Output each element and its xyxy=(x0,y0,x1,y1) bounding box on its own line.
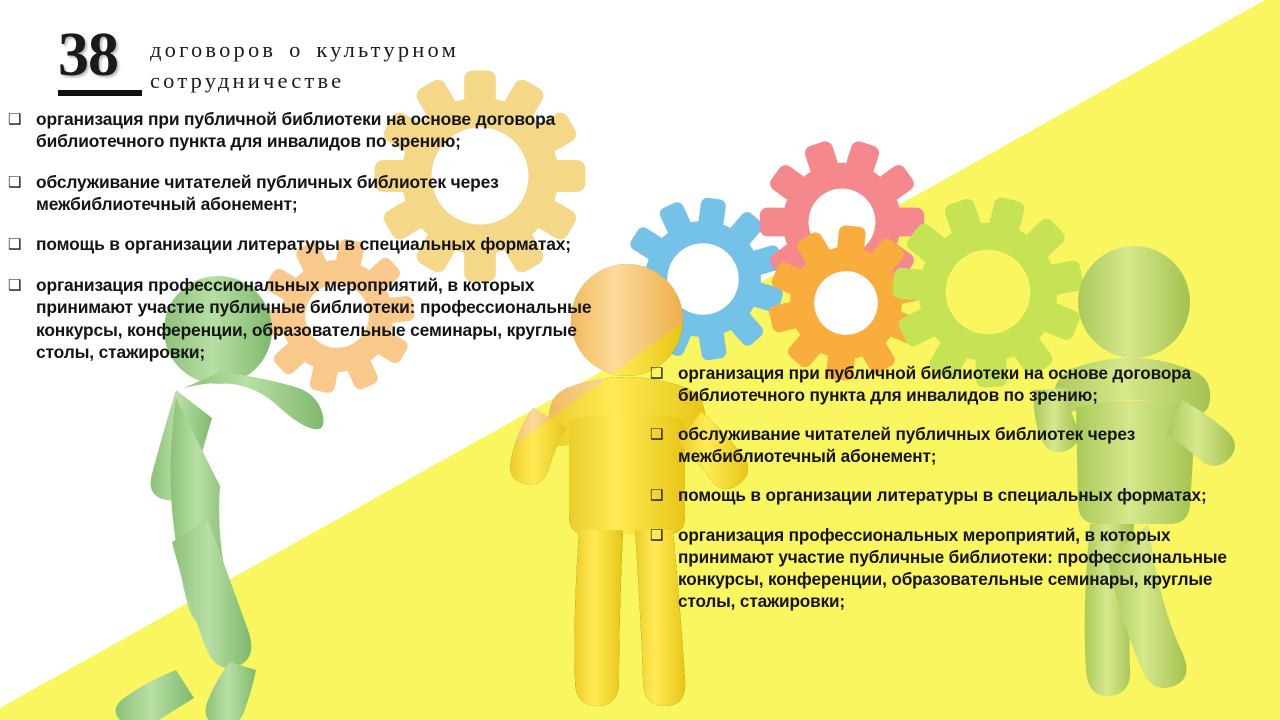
list-item-text: организация профессиональных мероприятий… xyxy=(678,524,1250,612)
square-bullet-icon: ❑ xyxy=(650,484,678,507)
list-item: ❑ организация профессиональных мероприят… xyxy=(8,274,616,363)
square-bullet-icon: ❑ xyxy=(8,108,36,131)
list-item: ❑ обслуживание читателей публичных библи… xyxy=(650,423,1250,467)
list-item: ❑ помощь в организации литературы в спец… xyxy=(8,233,616,256)
square-bullet-icon: ❑ xyxy=(650,423,678,446)
list-item-text: организация профессиональных мероприятий… xyxy=(36,274,616,363)
square-bullet-icon: ❑ xyxy=(8,274,36,297)
list-item-text: помощь в организации литературы в специа… xyxy=(678,484,1250,506)
title-number: 38 xyxy=(58,24,118,86)
list-item: ❑ обслуживание читателей публичных библи… xyxy=(8,171,616,216)
square-bullet-icon: ❑ xyxy=(650,524,678,547)
list-item-text: помощь в организации литературы в специа… xyxy=(36,233,616,255)
list-item: ❑ помощь в организации литературы в спец… xyxy=(650,484,1250,507)
list-item: ❑ организация профессиональных мероприят… xyxy=(650,524,1250,612)
title-text: договоров о культурном сотрудничестве xyxy=(150,34,620,96)
bullet-list-left: ❑ организация при публичной библиотеки н… xyxy=(8,108,616,381)
list-item-text: обслуживание читателей публичных библиот… xyxy=(678,423,1250,467)
square-bullet-icon: ❑ xyxy=(8,233,36,256)
slide-canvas: 38 договоров о культурном сотрудничестве… xyxy=(0,0,1280,720)
square-bullet-icon: ❑ xyxy=(650,362,678,385)
square-bullet-icon: ❑ xyxy=(8,171,36,194)
bullet-list-right: ❑ организация при публичной библиотеки н… xyxy=(650,362,1250,629)
list-item: ❑ организация при публичной библиотеки н… xyxy=(650,362,1250,406)
slide-title: 38 договоров о культурном сотрудничестве xyxy=(58,28,618,108)
list-item-text: организация при публичной библиотеки на … xyxy=(678,362,1250,406)
list-item-text: обслуживание читателей публичных библиот… xyxy=(36,171,616,216)
title-number-underline xyxy=(58,90,142,96)
list-item: ❑ организация при публичной библиотеки н… xyxy=(8,108,616,153)
list-item-text: организация при публичной библиотеки на … xyxy=(36,108,616,153)
